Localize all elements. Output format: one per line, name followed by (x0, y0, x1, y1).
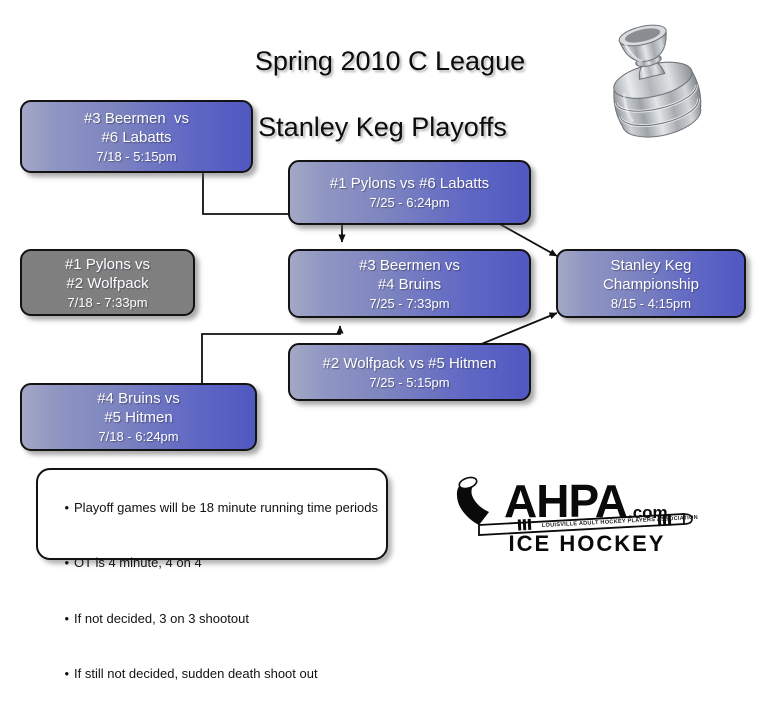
rule-item: •If still not decided, sudden death shoo… (50, 647, 386, 702)
game-time: 7/25 - 5:15pm (369, 374, 449, 391)
bullet-icon: • (64, 500, 69, 515)
game-time: 7/25 - 7:33pm (369, 295, 449, 312)
championship-line-1: Stanley Keg (611, 256, 692, 275)
rule-text: If still not decided, sudden death shoot… (74, 666, 318, 681)
game-teams-line-2: #6 Labatts (101, 128, 171, 147)
rule-item: •If not decided, 3 on 3 shootout (50, 591, 386, 647)
game-box-round1-game3[interactable]: #4 Bruins vs #5 Hitmen 7/18 - 6:24pm (20, 383, 257, 451)
championship-line-2: Championship (603, 275, 699, 294)
game-box-round2-game2[interactable]: #3 Beermen vs #4 Bruins 7/25 - 7:33pm (288, 249, 531, 318)
rule-text: OT is 4 minute, 4 on 4 (74, 555, 202, 570)
game-box-round1-game1[interactable]: #3 Beermen vs #6 Labatts 7/18 - 5:15pm (20, 100, 253, 173)
game-time: 7/18 - 5:15pm (96, 148, 176, 165)
bullet-icon: • (64, 611, 69, 626)
rule-item: •OT is 4 minute, 4 on 4 (50, 536, 386, 592)
game-time: 7/18 - 7:33pm (67, 294, 147, 311)
game-teams-line-1: #3 Beermen vs (84, 109, 189, 128)
game-teams-line-1: #2 Wolfpack vs #5 Hitmen (323, 354, 497, 373)
playoff-rules-box: •Playoff games will be 18 minute running… (36, 468, 388, 560)
game-teams-line-2: #2 Wolfpack (66, 274, 148, 293)
bullet-icon: • (64, 555, 69, 570)
game-teams-line-1: #4 Bruins vs (97, 389, 180, 408)
game-teams-line-2: #4 Bruins (378, 275, 441, 294)
rule-item: •Playoff games will be 18 minute running… (50, 480, 386, 536)
game-teams-line-2: #5 Hitmen (104, 408, 172, 427)
championship-time: 8/15 - 4:15pm (611, 295, 691, 312)
game-box-round1-game2[interactable]: #1 Pylons vs #2 Wolfpack 7/18 - 7:33pm (20, 249, 195, 316)
game-teams-line-1: #1 Pylons vs (65, 255, 150, 274)
game-time: 7/25 - 6:24pm (369, 194, 449, 211)
rule-text: If not decided, 3 on 3 shootout (74, 611, 249, 626)
stanley-keg-trophy-icon (600, 18, 728, 140)
page-title-line-1: Spring 2010 C League (255, 46, 525, 76)
game-teams-line-1: #1 Pylons vs #6 Labatts (330, 174, 489, 193)
rule-text: Playoff games will be 18 minute running … (74, 500, 378, 515)
game-box-round2-game1[interactable]: #1 Pylons vs #6 Labatts 7/25 - 6:24pm (288, 160, 531, 225)
logo-subtitle: ICE HOCKEY (452, 531, 722, 557)
game-time: 7/18 - 6:24pm (98, 428, 178, 445)
game-teams-line-1: #3 Beermen vs (359, 256, 460, 275)
game-box-championship[interactable]: Stanley Keg Championship 8/15 - 4:15pm (556, 249, 746, 318)
game-box-round2-game3[interactable]: #2 Wolfpack vs #5 Hitmen 7/25 - 5:15pm (288, 343, 531, 401)
bullet-icon: • (64, 666, 69, 681)
